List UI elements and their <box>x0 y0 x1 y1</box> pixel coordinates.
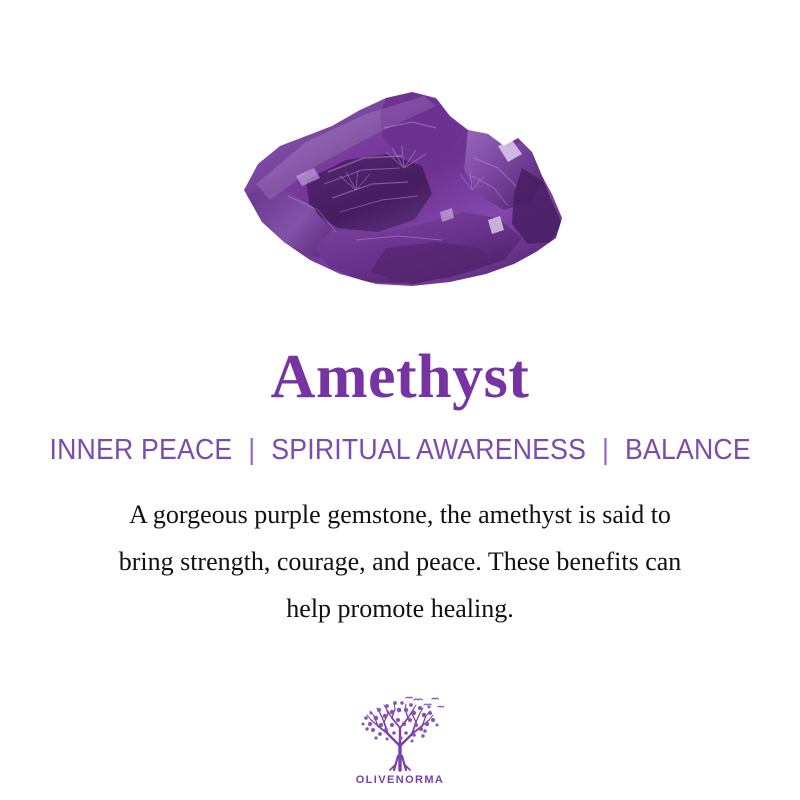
description-line-3: help promote healing. <box>50 585 750 632</box>
amethyst-info-card: Amethyst INNER PEACE | SPIRITUAL AWARENE… <box>0 0 800 800</box>
keyword-inner-peace: INNER PEACE <box>49 434 232 466</box>
brand-wordmark: OLIVENORMA <box>356 775 445 786</box>
keyword-spiritual-awareness: SPIRITUAL AWARENESS <box>271 434 586 466</box>
hero-image-area <box>0 0 800 318</box>
keyword-balance: BALANCE <box>625 434 751 466</box>
keyword-separator: | <box>240 434 264 466</box>
description-line-2: bring strength, courage, and peace. Thes… <box>50 538 750 585</box>
page-title: Amethyst <box>271 318 530 408</box>
description-text: A gorgeous purple gemstone, the amethyst… <box>50 465 750 632</box>
description-line-1: A gorgeous purple gemstone, the amethyst… <box>50 491 750 538</box>
brand-logo: OLIVENORMA <box>0 694 800 786</box>
olive-tree-icon <box>354 694 446 774</box>
amethyst-stone-image <box>236 72 572 292</box>
keyword-list: INNER PEACE | SPIRITUAL AWARENESS | BALA… <box>49 408 750 465</box>
keyword-separator: | <box>594 434 618 466</box>
